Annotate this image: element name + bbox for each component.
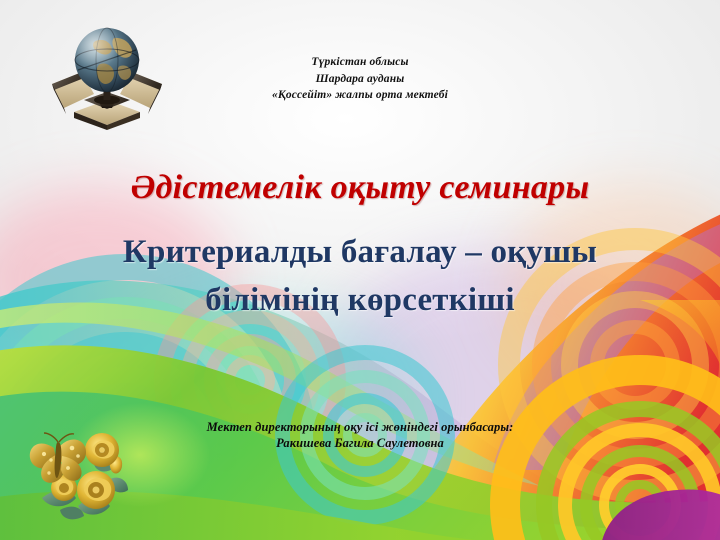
slide-main-title: Критериалды бағалау – оқушы білімінің кө… [0, 228, 720, 324]
main-title-line-1: Критериалды бағалау – оқушы [0, 228, 720, 276]
seminar-subtitle: Әдістемелік оқыту семинары [0, 168, 720, 208]
main-title-line-2: білімінің көрсеткіші [0, 276, 720, 324]
presentation-slide: Түркістан облысы Шардара ауданы «Қоссейі… [0, 0, 720, 540]
header-line-region: Түркістан облысы [0, 54, 720, 71]
header-line-school: «Қоссейіт» жалпы орта мектебі [0, 87, 720, 104]
school-identification-header: Түркістан облысы Шардара ауданы «Қоссейі… [0, 54, 720, 104]
presenter-role: Мектеп директорының оқу ісі жөніндегі ор… [0, 420, 720, 436]
header-line-district: Шардара ауданы [0, 71, 720, 88]
presenter-credit: Мектеп директорының оқу ісі жөніндегі ор… [0, 420, 720, 451]
presenter-name: Ракишева Багила Саулетовна [0, 436, 720, 452]
